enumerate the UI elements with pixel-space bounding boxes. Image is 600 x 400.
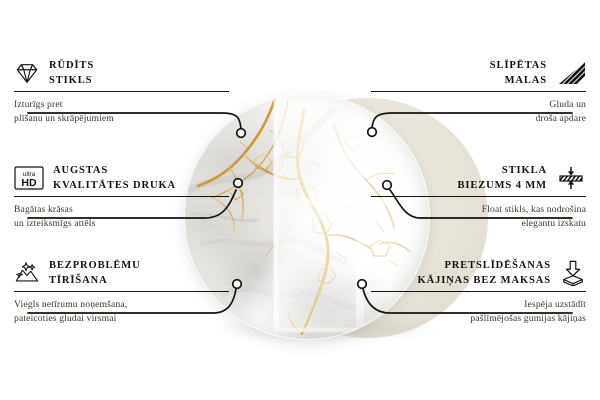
callout-tempered-glass: RŪDĪTS STIKLS Izturīgs pret plīšanu un s… — [14, 60, 229, 126]
callout-header: PRETSLĪDĒŠANAS KĀJIŅAS BEZ MAKSAS — [371, 260, 586, 287]
callout-titles: BEZPROBLĒMU TĪRĪŠANA — [49, 260, 141, 287]
callout-easy-cleaning: BEZPROBLĒMU TĪRĪŠANA Viegls netīrumu noņ… — [14, 260, 229, 326]
callout-description: Iespēja uzstādīt pašlīmējošas gumijas kā… — [371, 298, 586, 326]
callout-title-line: PRETSLĪDĒŠANAS — [418, 260, 551, 272]
callout-titles: AUGSTAS KVALITĀTES DRUKA — [53, 165, 176, 192]
ultra-hd-icon: ultra HD — [14, 166, 44, 190]
callout-title-line: STIKLA — [457, 165, 547, 177]
callout-polished-edges: SLĪPĒTAS MALAS Gluda un droša apdare — [371, 60, 586, 126]
callout-title-line: STIKLS — [49, 75, 94, 87]
callout-title-line: MALAS — [490, 75, 547, 87]
callout-description: Izturīgs pret plīšanu un skrāpējumiem — [14, 98, 229, 126]
callout-anti-slip-feet: PRETSLĪDĒŠANAS KĀJIŅAS BEZ MAKSAS Iespēj… — [371, 260, 586, 326]
callout-header: SLĪPĒTAS MALAS — [371, 60, 586, 87]
hatched-triangle-icon — [556, 61, 586, 85]
callout-description: Float stikls, kas nodrošina elegantu izs… — [371, 203, 586, 231]
callout-description: Bagātas krāsas un izteiksmīgs attēls — [14, 203, 229, 231]
arrow-down — [568, 172, 574, 176]
thickness-arrows-icon — [556, 166, 586, 190]
callout-title-line: RŪDĪTS — [49, 60, 94, 72]
press-pad-icon — [560, 260, 586, 286]
callout-title-line: BEZPROBLĒMU — [49, 260, 141, 272]
diamond-icon — [14, 60, 40, 86]
infographic-canvas: RŪDĪTS STIKLS Izturīgs pret plīšanu un s… — [0, 0, 600, 400]
callout-title-line: SLĪPĒTAS — [490, 60, 547, 72]
callout-description: Gluda un droša apdare — [371, 98, 586, 126]
callout-rule — [14, 91, 229, 92]
ultra-hd-large-text: HD — [21, 177, 37, 189]
callout-title-line: BIEZUMS 4 MM — [457, 180, 547, 192]
callout-title-line: TĪRĪŠANA — [49, 275, 141, 287]
callout-print-quality: ultra HD AUGSTAS KVALITĀTES DRUKA Bagāta… — [14, 165, 229, 231]
callout-rule — [371, 291, 586, 292]
callout-title-line: AUGSTAS — [53, 165, 176, 177]
callout-header: BEZPROBLĒMU TĪRĪŠANA — [14, 260, 229, 287]
callout-description: Viegls netīrumu noņemšana, pateicoties g… — [14, 298, 229, 326]
callout-glass-thickness: STIKLA BIEZUMS 4 MM Float stikls, kas no… — [371, 165, 586, 231]
callout-titles: STIKLA BIEZUMS 4 MM — [457, 165, 547, 192]
callout-header: STIKLA BIEZUMS 4 MM — [371, 165, 586, 192]
callout-title-line: KĀJIŅAS BEZ MAKSAS — [418, 275, 551, 287]
callout-rule — [14, 291, 229, 292]
callout-titles: RŪDĪTS STIKLS — [49, 60, 94, 87]
callout-rule — [14, 196, 229, 197]
callout-header: ultra HD AUGSTAS KVALITĀTES DRUKA — [14, 165, 229, 192]
callout-title-line: KVALITĀTES DRUKA — [53, 180, 176, 192]
callout-header: RŪDĪTS STIKLS — [14, 60, 229, 87]
callout-rule — [371, 196, 586, 197]
callout-titles: SLĪPĒTAS MALAS — [490, 60, 547, 87]
sparkle-surface-icon — [14, 260, 40, 286]
callout-rule — [371, 91, 586, 92]
callout-titles: PRETSLĪDĒŠANAS KĀJIŅAS BEZ MAKSAS — [418, 260, 551, 287]
